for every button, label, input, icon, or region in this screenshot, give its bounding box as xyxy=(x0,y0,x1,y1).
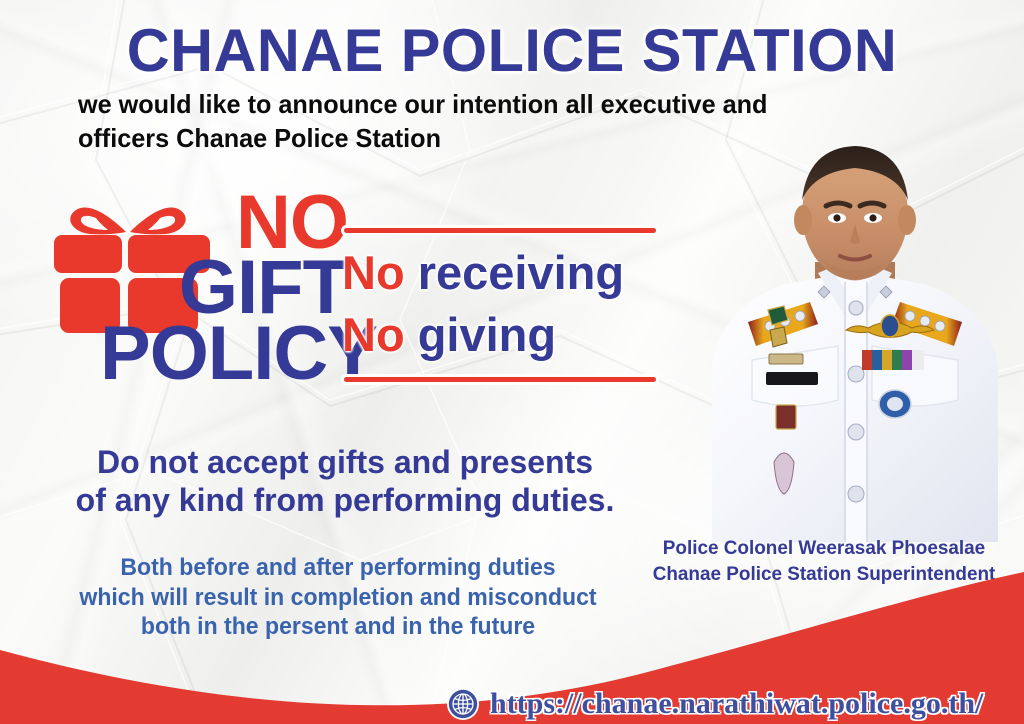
divider-top xyxy=(344,228,656,233)
police-officer-portrait xyxy=(690,132,1020,542)
rule-no-giving-prefix: No xyxy=(342,308,405,361)
website-url[interactable]: https://chanae.narathiwat.police.go.th/ xyxy=(490,687,983,721)
subtitle-line-1: we would like to announce our intention … xyxy=(78,88,941,122)
no-gift-policy-wordmark: NO GIFT POLICY xyxy=(100,190,348,386)
globe-icon xyxy=(446,687,480,721)
statement-line-1: Do not accept gifts and presents xyxy=(30,443,660,481)
rule-no-receiving-text: receiving xyxy=(405,246,624,299)
rule-no-receiving-prefix: No xyxy=(342,246,405,299)
main-statement: Do not accept gifts and presents of any … xyxy=(30,443,660,520)
rule-no-receiving: No receiving xyxy=(342,245,624,300)
divider-bottom xyxy=(344,377,656,382)
page-title: CHANAE POLICE STATION xyxy=(5,16,1019,85)
footer-url-row[interactable]: https://chanae.narathiwat.police.go.th/ xyxy=(446,684,983,724)
statement-line-2: of any kind from performing duties. xyxy=(30,481,660,519)
wordmark-policy: POLICY xyxy=(100,321,348,386)
rule-no-giving: No giving xyxy=(342,307,556,362)
poster-canvas: CHANAE POLICE STATION we would like to a… xyxy=(0,0,1024,724)
rule-no-giving-text: giving xyxy=(405,308,556,361)
